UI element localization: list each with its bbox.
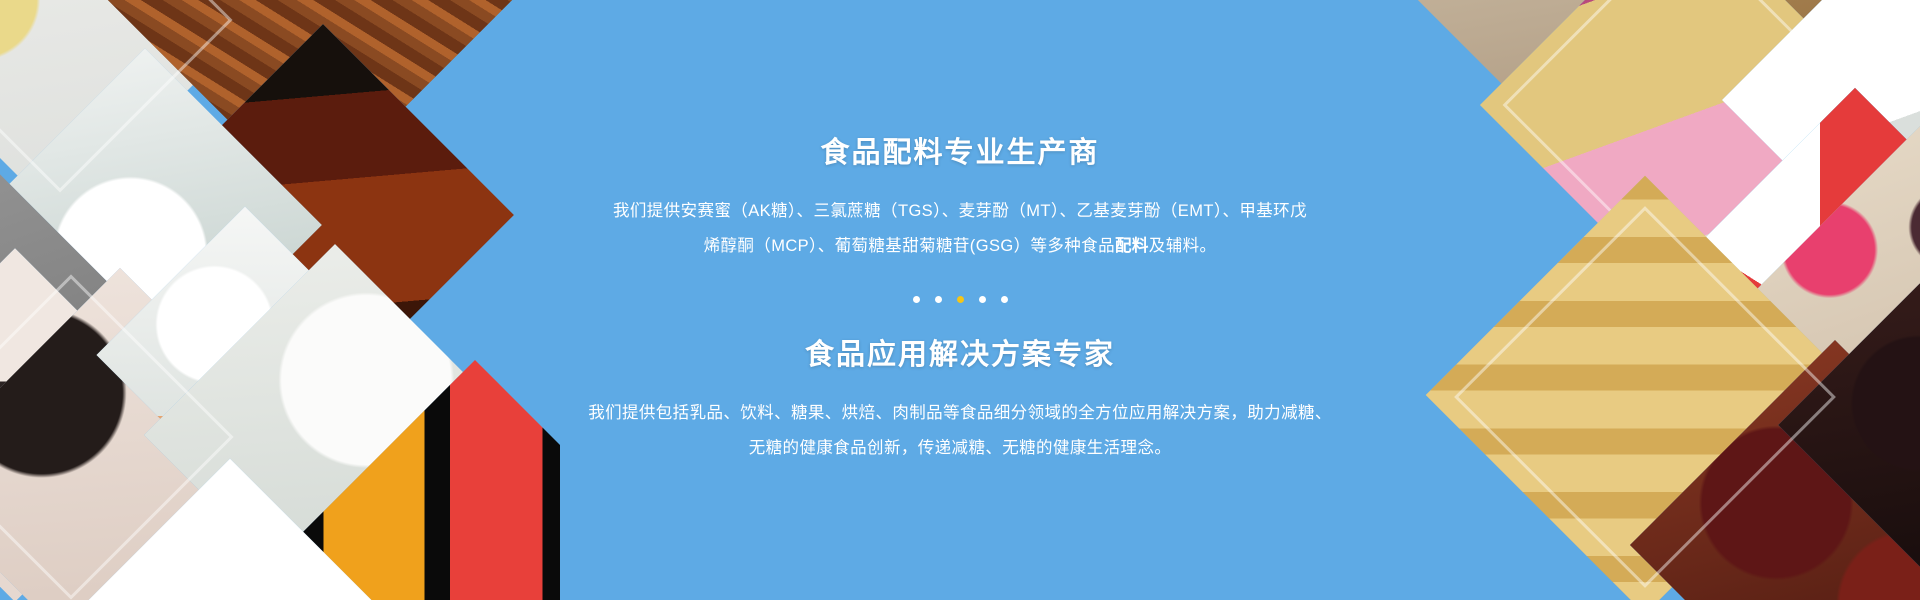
separator-dot-2 (935, 296, 942, 303)
paragraph-solutions-line-1: 我们提供包括乳品、饮料、糖果、烘焙、肉制品等食品细分领域的全方位应用解决方案，助… (588, 404, 1332, 422)
headline-solutions: 食品应用解决方案专家 (510, 337, 1410, 375)
paragraph-solutions-line-2: 无糖的健康食品创新，传递减糖、无糖的健康生活理念。 (749, 439, 1172, 457)
separator-dot-5 (1001, 296, 1008, 303)
headline-producer: 食品配料专业生产商 (510, 135, 1410, 173)
section-solutions: 食品应用解决方案专家 我们提供包括乳品、饮料、糖果、烘焙、肉制品等食品细分领域的… (510, 337, 1410, 466)
separator-dot-accent (957, 296, 964, 303)
paragraph-solutions: 我们提供包括乳品、饮料、糖果、烘焙、肉制品等食品细分领域的全方位应用解决方案，助… (560, 396, 1360, 465)
separator-dot-1 (913, 296, 920, 303)
paragraph-producer-line-2-prefix: 烯醇酮（MCP）、葡萄糖基甜菊糖苷(GSG）等多种食品 (704, 237, 1115, 255)
section-producer: 食品配料专业生产商 我们提供安赛蜜（AK糖）、三氯蔗糖（TGS）、麦芽酚（MT）… (510, 135, 1410, 264)
mosaic-left (0, 0, 560, 600)
paragraph-producer-line-2-suffix: 及辅料。 (1149, 237, 1217, 255)
mosaic-right (1360, 0, 1920, 600)
dot-separator (913, 296, 1008, 303)
paragraph-producer: 我们提供安赛蜜（AK糖）、三氯蔗糖（TGS）、麦芽酚（MT）、乙基麦芽酚（EMT… (565, 194, 1355, 263)
paragraph-producer-line-1: 我们提供安赛蜜（AK糖）、三氯蔗糖（TGS）、麦芽酚（MT）、乙基麦芽酚（EMT… (613, 202, 1307, 220)
paragraph-producer-emphasis: 配料 (1115, 237, 1149, 255)
banner-content: 食品配料专业生产商 我们提供安赛蜜（AK糖）、三氯蔗糖（TGS）、麦芽酚（MT）… (510, 0, 1410, 600)
hero-banner: 食品配料专业生产商 我们提供安赛蜜（AK糖）、三氯蔗糖（TGS）、麦芽酚（MT）… (0, 0, 1920, 600)
separator-dot-4 (979, 296, 986, 303)
